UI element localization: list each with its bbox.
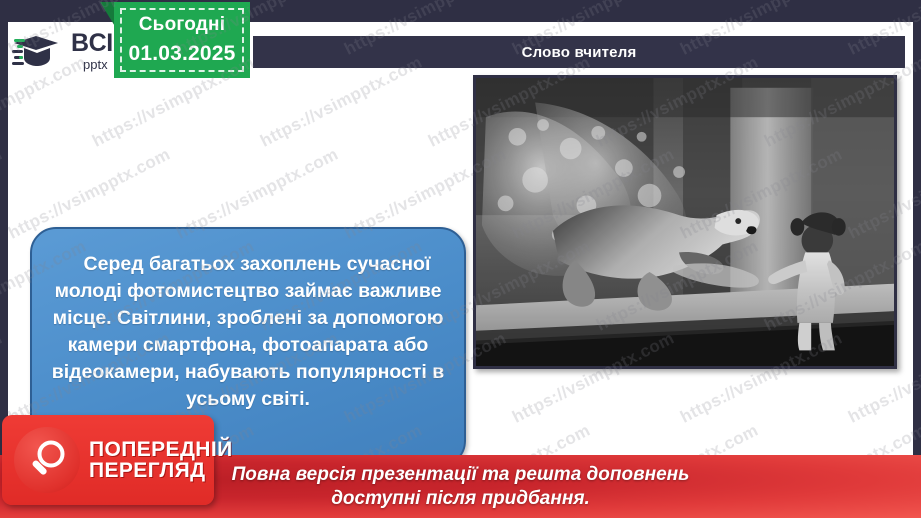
- banner-line-1: Повна версія презентації та решта доповн…: [232, 463, 690, 486]
- page-title: Слово вчителя: [522, 44, 637, 61]
- presentation-slide: BCIM pptx Сьогодні 01.03.2025 Слово вчит…: [0, 0, 921, 518]
- banner-line-2: доступні після придбання.: [331, 487, 590, 510]
- date-badge-label: Сьогодні: [139, 14, 225, 36]
- preview-badge-line-1: ПОПЕРЕДНІЙ: [89, 439, 233, 460]
- preview-badge-label: ПОПЕРЕДНІЙ ПЕРЕГЛЯД: [89, 439, 233, 482]
- polar-bear-photo-graphic: [476, 78, 894, 366]
- date-badge: Сьогодні 01.03.2025: [114, 2, 250, 78]
- magnifier-icon: [14, 427, 80, 493]
- content-paragraph: Серед багатьох захоплень сучасної молоді…: [48, 251, 448, 412]
- preview-badge: ПОПЕРЕДНІЙ ПЕРЕГЛЯД: [2, 415, 214, 505]
- preview-badge-line-2: ПЕРЕГЛЯД: [89, 460, 233, 481]
- slide-header-bar: Слово вчителя: [253, 36, 905, 68]
- magnifier-glyph: [24, 437, 70, 483]
- date-badge-value: 01.03.2025: [128, 42, 235, 66]
- slide-photo: [473, 75, 897, 369]
- graduation-cap-icon: [12, 30, 70, 72]
